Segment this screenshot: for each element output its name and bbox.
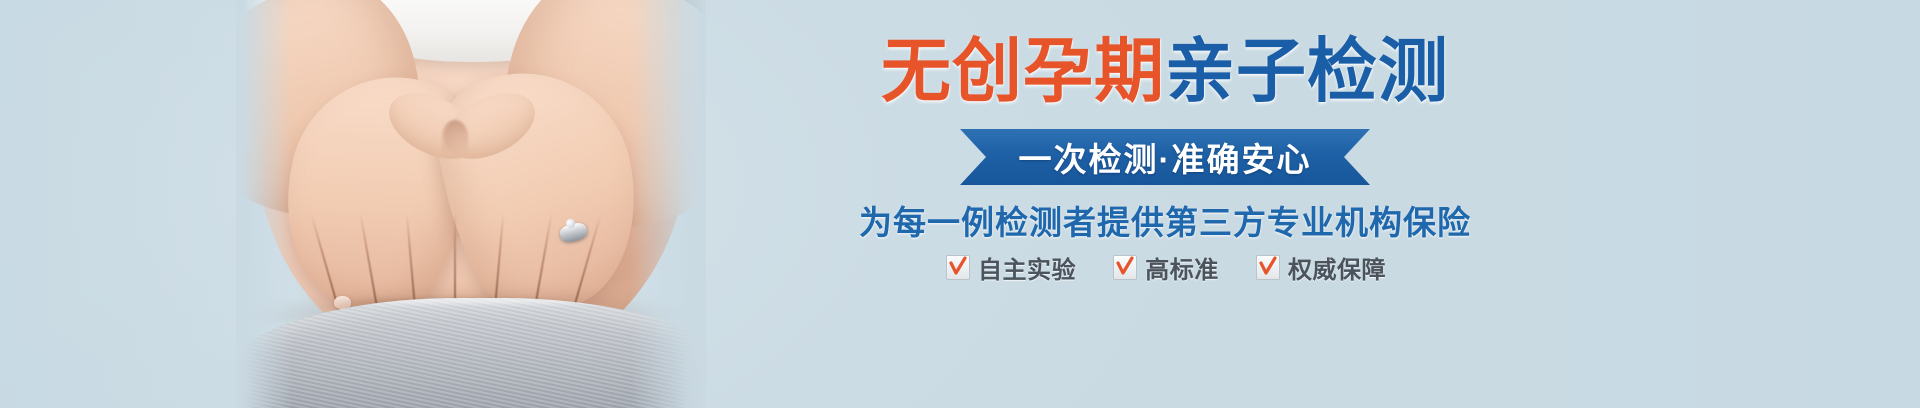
promo-banner: 无创孕期亲子检测 一次检测·准确安心 为每一例检测者提供第三方专业机构保险 自主… bbox=[0, 0, 1920, 408]
heart-notch-shadow bbox=[442, 120, 468, 154]
banner-content: 无创孕期亲子检测 一次检测·准确安心 为每一例检测者提供第三方专业机构保险 自主… bbox=[770, 0, 1560, 408]
slogan-ribbon-text: 一次检测·准确安心 bbox=[1019, 133, 1312, 181]
headline-blue-part: 亲子检测 bbox=[1165, 32, 1449, 110]
feature-label: 高标准 bbox=[1145, 250, 1219, 285]
feature-label: 自主实验 bbox=[978, 250, 1076, 285]
feature-list: 自主实验 高标准 权威保障 bbox=[946, 250, 1386, 285]
subheadline: 为每一例检测者提供第三方专业机构保险 bbox=[770, 196, 1560, 244]
headline: 无创孕期亲子检测 bbox=[770, 36, 1560, 106]
headline-orange-part: 无创孕期 bbox=[881, 32, 1165, 110]
hero-photo bbox=[236, 0, 706, 408]
pregnant-belly-illustration bbox=[236, 0, 706, 408]
feature-item: 权威保障 bbox=[1256, 250, 1386, 285]
feature-label: 权威保障 bbox=[1288, 250, 1386, 285]
checkbox-checked-icon bbox=[1113, 255, 1137, 280]
slogan-ribbon: 一次检测·准确安心 bbox=[960, 129, 1370, 185]
feature-item: 高标准 bbox=[1113, 250, 1219, 285]
checkbox-checked-icon bbox=[1256, 255, 1280, 280]
checkbox-checked-icon bbox=[946, 255, 970, 280]
feature-item: 自主实验 bbox=[946, 250, 1076, 285]
